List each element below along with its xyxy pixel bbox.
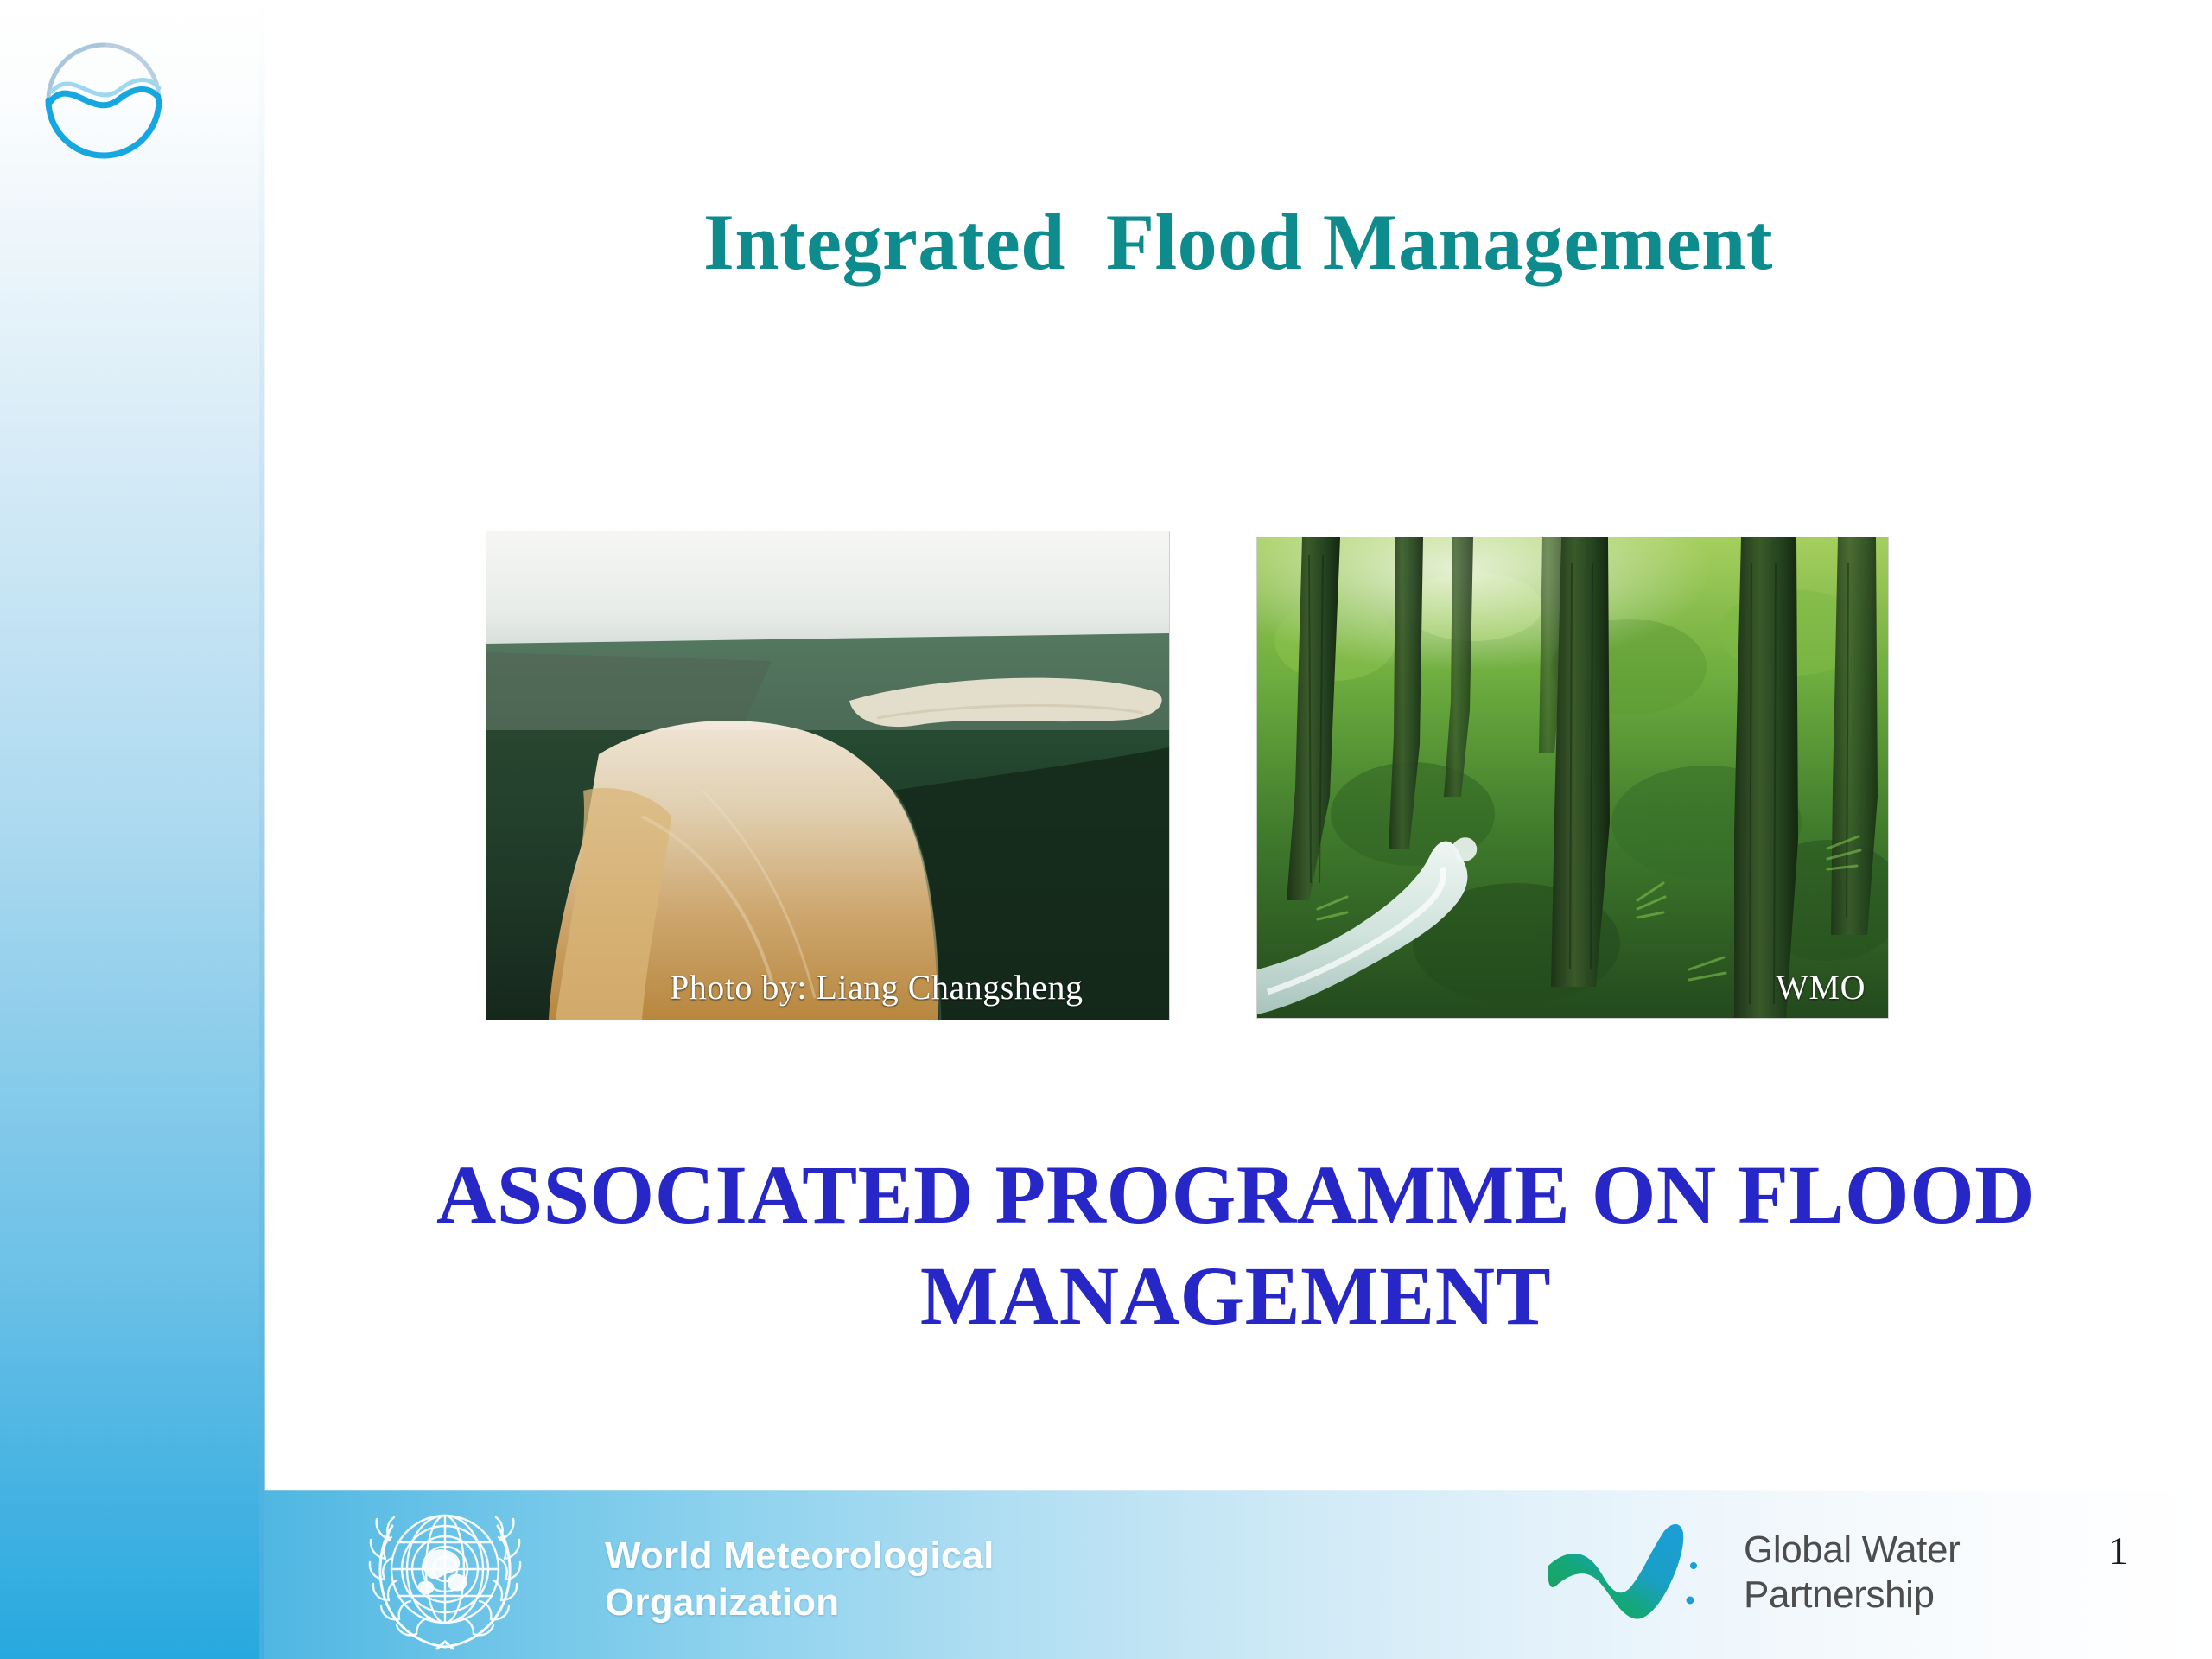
- gwp-wave-logo-icon: [1547, 1521, 1745, 1637]
- main-heading-line-1: ASSOCIATED PROGRAMME ON FLOOD: [285, 1144, 2186, 1245]
- slide-title: Integrated Flood Management: [264, 200, 2212, 284]
- main-heading-line-2: MANAGEMENT: [285, 1245, 2186, 1346]
- forest-stream-photo: WMO: [1257, 537, 1888, 1018]
- gwp-name-line-1: Global Water: [1744, 1528, 1960, 1573]
- forest-photo-caption: WMO: [1776, 967, 1866, 1007]
- gwp-partnership-name: Global Water Partnership: [1744, 1528, 1960, 1618]
- wmo-name-line-1: World Meteorological: [605, 1533, 995, 1580]
- presentation-slide: Integrated Flood Management: [0, 0, 2212, 1659]
- left-gradient-sidebar: [0, 0, 264, 1659]
- wmo-name-line-2: Organization: [605, 1580, 995, 1626]
- gwp-name-line-2: Partnership: [1744, 1573, 1960, 1618]
- main-heading: ASSOCIATED PROGRAMME ON FLOOD MANAGEMENT: [285, 1144, 2186, 1346]
- slide-number: 1: [2108, 1528, 2160, 1573]
- wmo-un-globe-emblem-icon: [363, 1495, 527, 1659]
- apfm-water-circle-logo-icon: [40, 36, 168, 164]
- wmo-organization-name: World Meteorological Organization: [605, 1533, 995, 1625]
- aerial-river-photo: Photo by: Liang Changsheng: [486, 531, 1169, 1020]
- river-photo-caption: Photo by: Liang Changsheng: [670, 967, 1084, 1007]
